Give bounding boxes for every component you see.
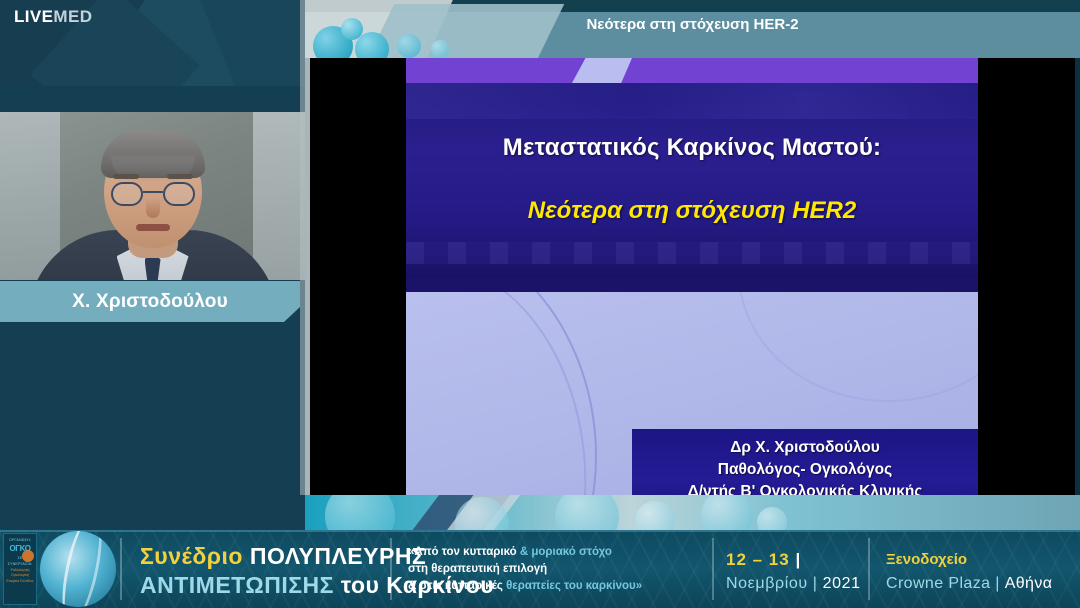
bubble-icon	[431, 40, 449, 58]
bubble-icon	[701, 495, 753, 530]
speaker-sidebar: LIVEMED Χ. Χριστοδούλου	[0, 0, 305, 530]
slide-info-line: Δ/ντής Β' Ογκολογικής Κλινικής	[632, 481, 978, 495]
session-header-bar: Νεότερα στη στόχευση HER-2	[305, 0, 1080, 58]
dna-cell-logo-icon	[40, 531, 116, 607]
slide-divider-band	[406, 278, 978, 292]
bubble-icon	[355, 32, 389, 58]
speaker-name-banner: Χ. Χριστοδούλου	[0, 281, 300, 322]
banner-separator	[868, 538, 870, 600]
organizer-logo-mark-icon	[22, 550, 34, 562]
tagline-seg: θεραπείες του καρκίνου»	[506, 580, 642, 592]
slide-info-line: Παθολόγος- Ογκολόγος	[632, 459, 978, 481]
venue-separator: |	[995, 575, 1000, 592]
speaker-glasses-bridge	[143, 191, 163, 193]
conference-banner: ΟΡΓΑΝΩΣΗ: ΟΓΚΟ ΣΕ ΣΥΝΕΡΓΑΣΙΑ: Ραδιολογικ…	[0, 530, 1080, 608]
logo-live-text: LIVE	[14, 7, 53, 26]
venue-city: Αθήνα	[1005, 575, 1053, 592]
video-wall-left	[0, 112, 60, 280]
decorative-cell-strip	[305, 495, 1080, 530]
speaker-eyebrow-left	[113, 174, 139, 179]
organizer-partner-text: Ραδιολογική Ογκολογική Εταιρεία Ελλάδος	[6, 568, 34, 584]
speaker-video-tile[interactable]	[0, 112, 305, 280]
slide-info-line: Δρ Χ. Χριστοδούλου	[632, 437, 978, 459]
tagline-seg: στη θεραπευτική επιλογή	[408, 563, 547, 575]
tagline-line1: «Από τον κυτταρικό & μοριακό στόχο	[408, 544, 708, 561]
conf-title-word-polypleyris: ΠΟΛΥΠΛΕΥΡΗΣ	[250, 543, 426, 569]
broadcast-stage: LIVEMED Χ. Χριστοδούλου	[0, 0, 1080, 608]
speaker-eyebrow-right	[167, 174, 193, 179]
slide-title-line2: Νεότερα στη στόχευση HER2	[406, 197, 978, 225]
livemed-logo[interactable]: LIVEMED	[14, 6, 92, 28]
dates-year: 2021	[823, 575, 861, 592]
bubble-icon	[757, 507, 787, 530]
venue-label: Ξενοδοχείο	[886, 548, 1052, 572]
bubble-icon	[325, 495, 395, 530]
dates-separator: |	[795, 550, 801, 569]
tagline-seg: & στις κυτταρικές	[408, 580, 506, 592]
conference-tagline: «Από τον κυτταρικό & μοριακό στόχο στη θ…	[408, 544, 708, 595]
dates-days: 12 – 13	[726, 550, 790, 569]
banner-separator	[120, 538, 122, 600]
speaker-name-label: Χ. Χριστοδούλου	[72, 291, 228, 313]
speaker-glasses-left	[111, 182, 143, 206]
presentation-slide: Μεταστατικός Καρκίνος Μαστού: Νεότερα στ…	[406, 58, 978, 495]
bubble-icon	[397, 34, 421, 58]
slide-title-texture-top	[406, 83, 978, 119]
slide-right-edge	[1075, 58, 1080, 495]
slide-top-purple-bar	[406, 58, 978, 83]
slide-title-line1: Μεταστατικός Καρκίνος Μαστού:	[406, 134, 978, 162]
slide-body: Δρ Χ. Χριστοδούλου Παθολόγος- Ογκολόγος …	[406, 292, 978, 495]
speaker-hair	[101, 130, 205, 178]
swoosh-decoration	[738, 292, 978, 402]
slide-speaker-info-box: Δρ Χ. Χριστοδούλου Παθολόγος- Ογκολόγος …	[632, 429, 978, 495]
swoosh-decoration	[406, 292, 600, 495]
tagline-line2: στη θεραπευτική επιλογή	[408, 561, 708, 578]
speaker-nose	[146, 198, 160, 218]
tagline-seg: «Από τον κυτταρικό	[408, 546, 517, 558]
slide-viewport[interactable]: Μεταστατικός Καρκίνος Μαστού: Νεότερα στ…	[310, 58, 1075, 495]
venue-name: Crowne Plaza	[886, 575, 990, 592]
venue-line: Crowne Plaza | Αθήνα	[886, 572, 1052, 596]
conference-dates: 12 – 13 | Νοεμβρίου | 2021	[726, 548, 861, 596]
bubble-icon	[635, 501, 675, 530]
bubble-icon	[555, 495, 619, 530]
dates-month: Νοεμβρίου	[726, 575, 808, 592]
conf-title-word-synedrio: Συνέδριο	[140, 543, 250, 569]
banner-separator	[712, 538, 714, 600]
banner-top-rule	[0, 530, 1080, 532]
banner-separator	[390, 538, 392, 600]
conference-venue: Ξενοδοχείο Crowne Plaza | Αθήνα	[886, 548, 1052, 596]
dates-month-line: Νοεμβρίου | 2021	[726, 572, 861, 596]
speaker-mouth	[136, 224, 170, 231]
dates-separator: |	[813, 575, 818, 592]
organizer-logo-block[interactable]: ΟΡΓΑΝΩΣΗ: ΟΓΚΟ ΣΕ ΣΥΝΕΡΓΑΣΙΑ: Ραδιολογικ…	[3, 533, 37, 605]
speaker-glasses-right	[163, 182, 195, 206]
slide-title-texture-bottom	[406, 242, 978, 264]
sidebar-bottom-fill	[0, 495, 305, 530]
session-title: Νεότερα στη στόχευση HER-2	[305, 16, 1080, 33]
tagline-seg: & μοριακό στόχο	[517, 546, 612, 558]
conf-title-word-antimetopisis: ΑΝΤΙΜΕΤΩΠΙΣΗΣ	[140, 572, 341, 598]
logo-med-text: MED	[53, 7, 92, 26]
slide-title-panel: Μεταστατικός Καρκίνος Μαστού: Νεότερα στ…	[406, 83, 978, 278]
video-wall-right	[253, 112, 305, 280]
tagline-line3: & στις κυτταρικές θεραπείες του καρκίνου…	[408, 578, 708, 595]
dates-days-line: 12 – 13 |	[726, 548, 861, 572]
